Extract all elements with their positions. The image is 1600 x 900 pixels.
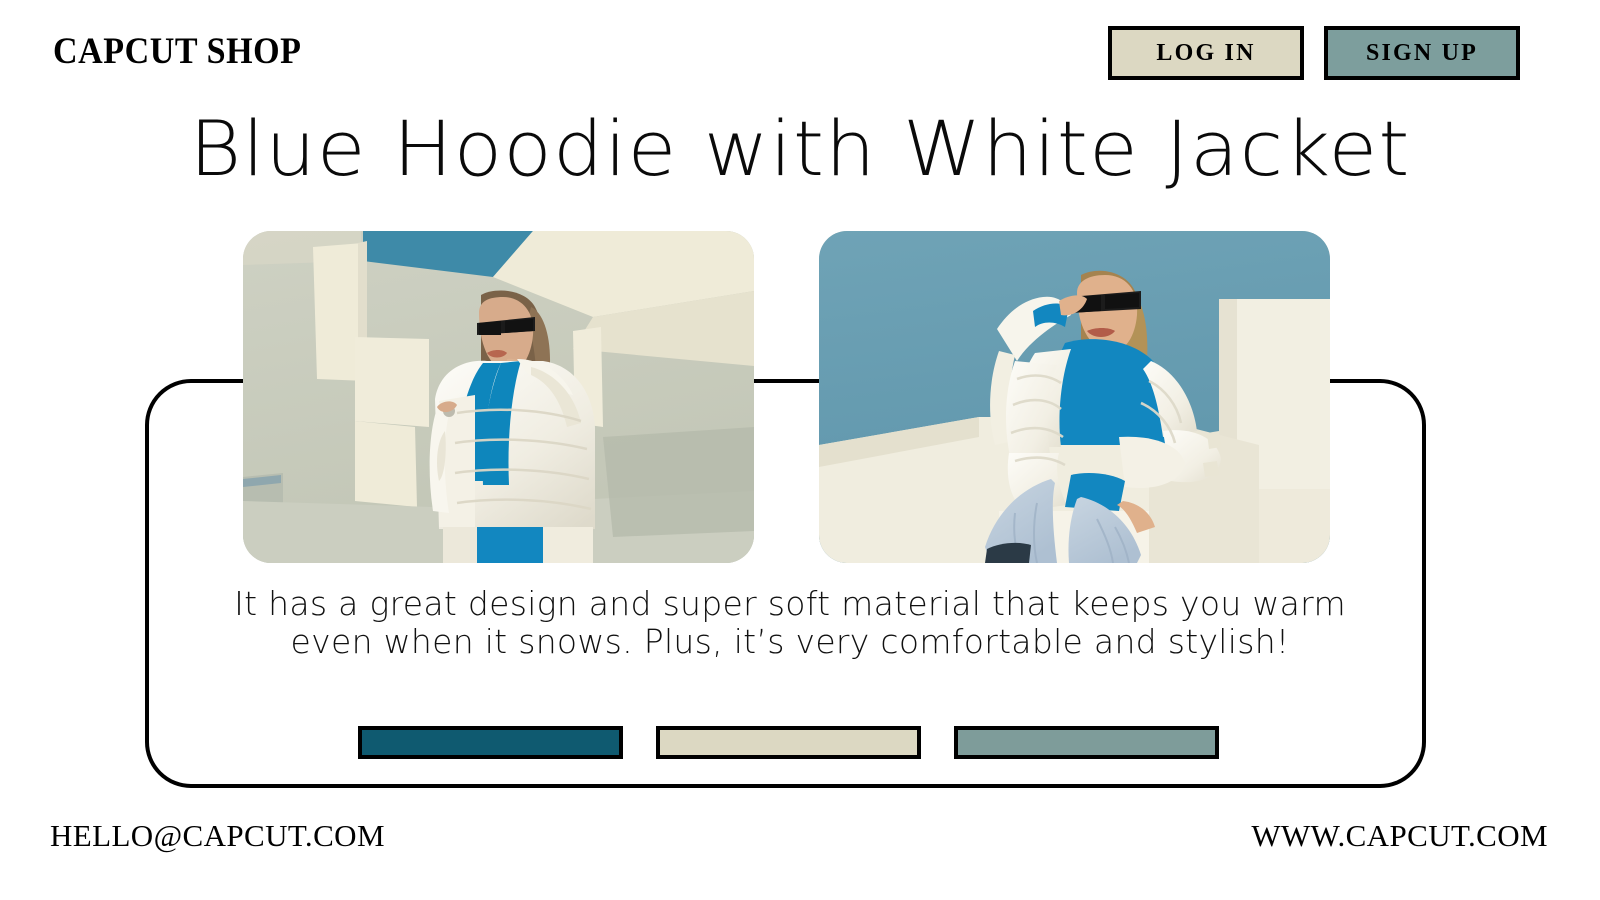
login-button[interactable]: LOG IN xyxy=(1108,26,1304,80)
header-nav: LOG IN SIGN UP xyxy=(1108,26,1520,80)
swatch-sage[interactable] xyxy=(954,726,1219,759)
product-photo-standing[interactable] xyxy=(243,231,754,563)
signup-button[interactable]: SIGN UP xyxy=(1324,26,1520,80)
product-page: CAPCUT SHOP LOG IN SIGN UP Blue Hoodie w… xyxy=(0,0,1600,900)
color-swatch-group xyxy=(358,726,1219,759)
product-description: It has a great design and super soft mat… xyxy=(210,585,1370,662)
brand-logo: CAPCUT SHOP xyxy=(53,30,301,73)
footer-website[interactable]: WWW.CAPCUT.COM xyxy=(1251,818,1548,854)
swatch-cream[interactable] xyxy=(656,726,921,759)
footer-email[interactable]: HELLO@CAPCUT.COM xyxy=(50,818,385,854)
product-photo-seated[interactable] xyxy=(819,231,1330,563)
page-title: Blue Hoodie with White Jacket xyxy=(0,104,1600,193)
swatch-deep-teal[interactable] xyxy=(358,726,623,759)
product-gallery xyxy=(243,231,1331,563)
